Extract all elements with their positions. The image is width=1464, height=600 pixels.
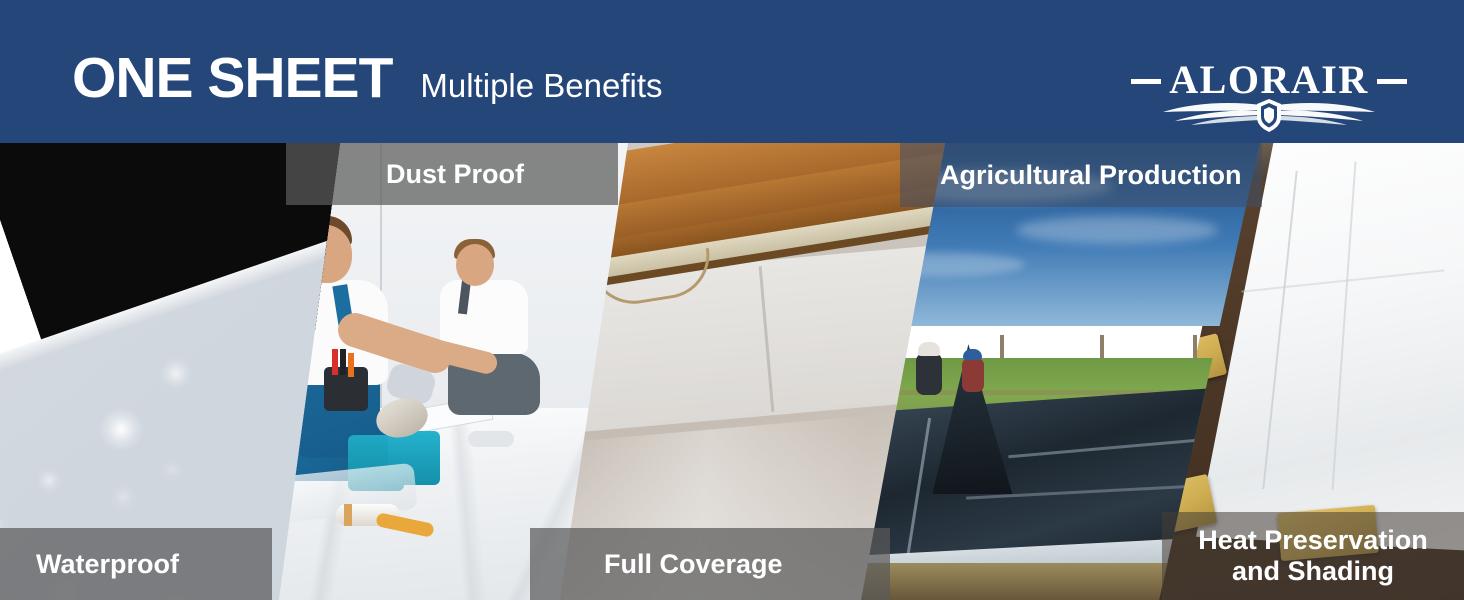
page-title: ONE SHEET <box>72 50 392 107</box>
worker-a-tool-pouch <box>324 367 368 411</box>
worker-b-shoe <box>468 431 514 447</box>
svg-text:ALORAIR: ALORAIR <box>1169 57 1368 102</box>
cloud-two <box>1016 216 1218 243</box>
label-dust-proof: Dust Proof <box>286 143 618 205</box>
tool-pen-black <box>340 349 346 375</box>
label-agricultural-production-text: Agricultural Production <box>940 160 1242 191</box>
label-full-coverage-text: Full Coverage <box>604 549 783 580</box>
farmer-one-body <box>916 353 942 395</box>
label-waterproof-text: Waterproof <box>36 549 179 580</box>
benefit-panel-strip: Waterproof Dust Proof Full Coverage Agri… <box>0 143 1464 600</box>
alorair-one-sheet-banner: ONE SHEET Multiple Benefits ALORAIR <box>0 0 1464 600</box>
label-dust-proof-text: Dust Proof <box>386 159 524 190</box>
label-heat-preservation: Heat Preservation and Shading <box>1162 512 1464 600</box>
label-heat-preservation-text: Heat Preservation and Shading <box>1198 525 1428 587</box>
label-agricultural-production: Agricultural Production <box>900 143 1262 207</box>
label-full-coverage: Full Coverage <box>530 528 890 600</box>
worker-b-head <box>456 244 494 286</box>
farmer-one-cap <box>918 342 940 356</box>
label-waterproof: Waterproof <box>0 528 272 600</box>
page-subtitle: Multiple Benefits <box>420 69 662 102</box>
tool-pen-orange <box>348 353 354 377</box>
tool-pen-red <box>332 349 338 375</box>
farmer-two-cap <box>963 349 982 360</box>
header-title-group: ONE SHEET Multiple Benefits <box>72 50 663 107</box>
banner-header: ONE SHEET Multiple Benefits ALORAIR <box>0 0 1464 143</box>
paint-roller-band <box>344 504 352 526</box>
farmer-two-body <box>962 358 984 392</box>
alorair-logo: ALORAIR <box>1129 55 1409 133</box>
